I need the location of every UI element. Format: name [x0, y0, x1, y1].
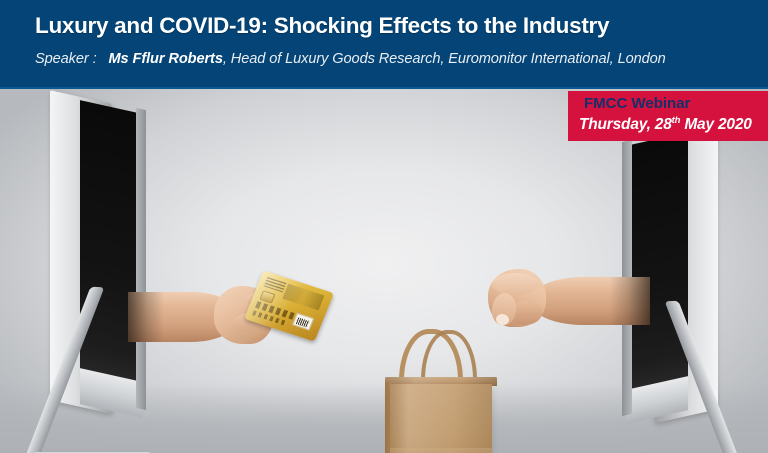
page-title: Luxury and COVID-19: Shocking Effects to…: [35, 13, 609, 39]
webinar-date-badge: FMCC Webinar Thursday, 28th May 2020: [568, 91, 768, 141]
speaker-name: Ms Fflur Roberts: [108, 51, 222, 67]
speaker-role: , Head of Luxury Goods Research, Euromon…: [223, 51, 666, 67]
speaker-label: Speaker :: [35, 51, 97, 67]
right-hand-arm: [490, 265, 650, 345]
badge-date-ordinal: th: [672, 115, 681, 126]
badge-date-month-year: May 2020: [680, 116, 751, 133]
left-monitor: [8, 97, 188, 442]
right-forearm: [530, 277, 650, 325]
hero-photo-stage: [0, 89, 768, 453]
right-knuckles: [492, 273, 538, 295]
badge-title: FMCC Webinar: [584, 95, 690, 112]
speaker-line: Speaker : Ms Fflur Roberts, Head of Luxu…: [35, 51, 666, 67]
credit-card-signature-strip: [292, 313, 314, 331]
badge-date-weekday-day: Thursday, 28: [579, 116, 672, 133]
header-banner: Luxury and COVID-19: Shocking Effects to…: [0, 0, 768, 89]
shopping-bag-body: [390, 384, 492, 453]
left-monitor-edge: [136, 108, 146, 410]
webinar-promo-poster: Luxury and COVID-19: Shocking Effects to…: [0, 0, 768, 453]
shopping-bag: [385, 329, 497, 453]
badge-date: Thursday, 28th May 2020: [579, 115, 752, 134]
